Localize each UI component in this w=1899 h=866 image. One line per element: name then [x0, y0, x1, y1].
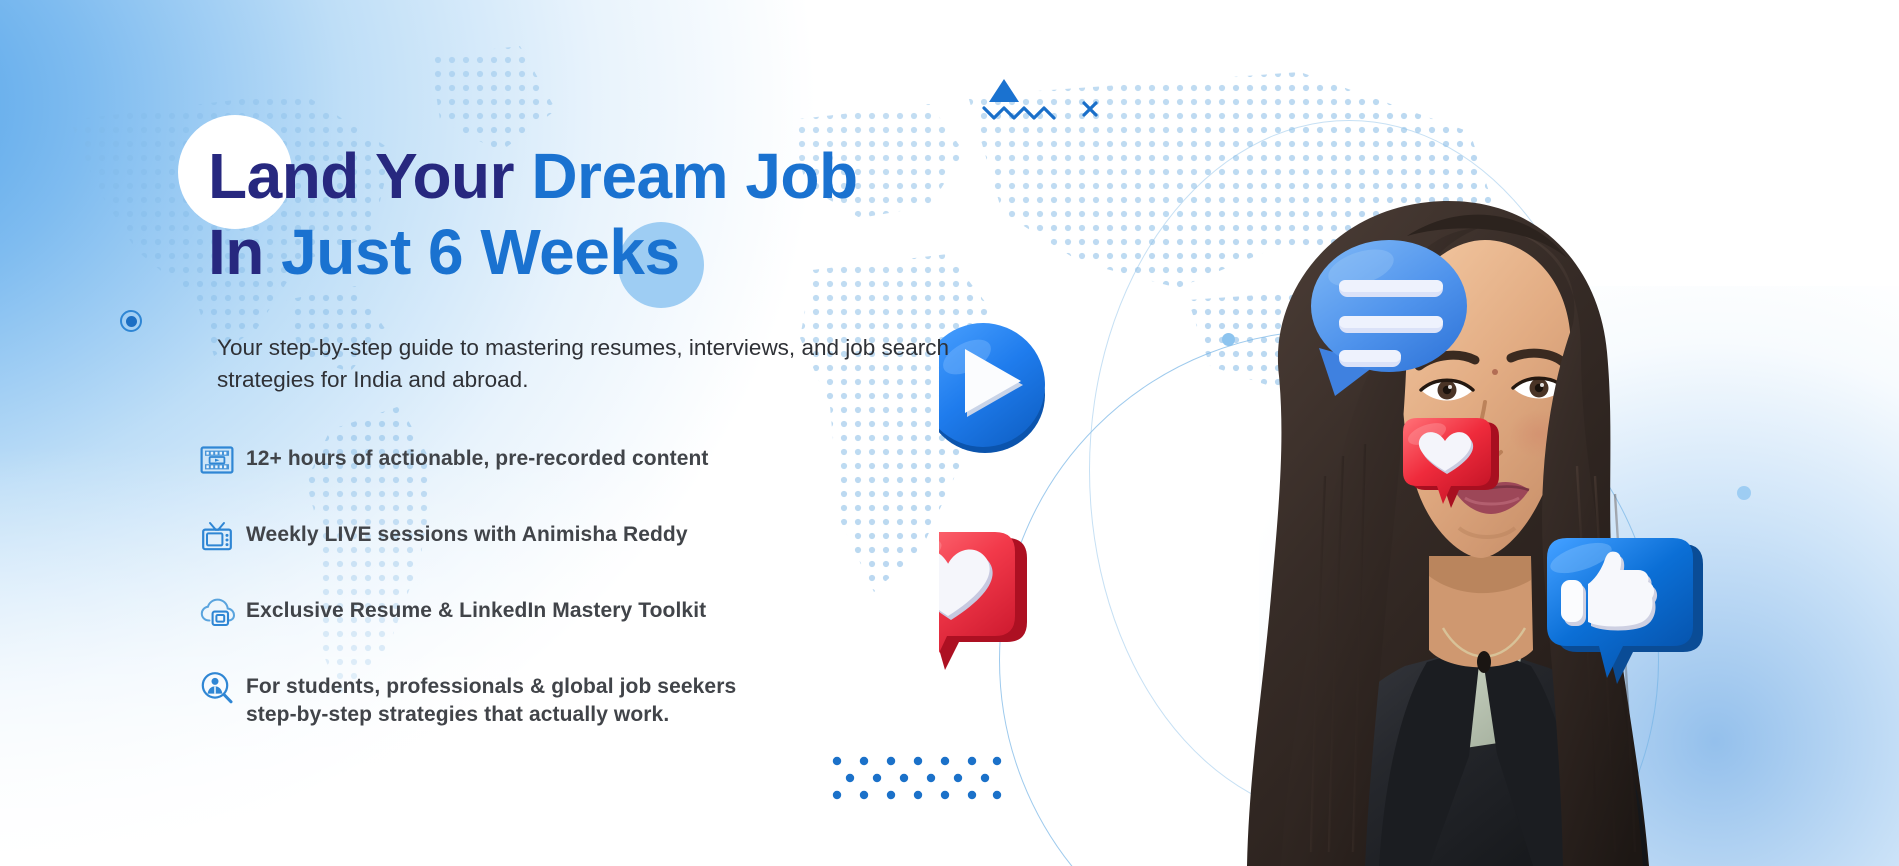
list-item-label: For students, professionals & global job…: [246, 668, 736, 729]
film-strip-video-icon: [200, 440, 246, 480]
list-item: Weekly LIVE sessions with Animisha Reddy: [200, 516, 990, 556]
list-item: 12+ hours of actionable, pre-recorded co…: [200, 440, 990, 480]
list-item-label: Weekly LIVE sessions with Animisha Reddy: [246, 516, 688, 549]
feature-line-1: For students, professionals & global job…: [246, 673, 736, 701]
feature-line-1: Weekly LIVE sessions with Animisha Reddy: [246, 523, 688, 546]
television-live-icon: [200, 516, 246, 556]
feature-line-1: 12+ hours of actionable, pre-recorded co…: [246, 447, 709, 470]
page-title: Land Your Dream Job In Just 6 Weeks: [208, 138, 858, 290]
headline-line1-part2: Dream Job: [531, 140, 857, 212]
list-item: Exclusive Resume & LinkedIn Mastery Tool…: [200, 592, 990, 632]
headline-line2-part2: Just 6 Weeks: [281, 216, 679, 288]
cloud-download-toolkit-icon: [200, 592, 246, 632]
feature-line-1: Exclusive Resume & LinkedIn Mastery Tool…: [246, 599, 706, 622]
person-magnifier-search-icon: [200, 668, 246, 708]
hero-content: Land Your Dream Job In Just 6 Weeks Your…: [0, 0, 1899, 866]
headline-line2-part1: In: [208, 216, 281, 288]
list-item-label: 12+ hours of actionable, pre-recorded co…: [246, 440, 709, 473]
hero-banner: Land Your Dream Job In Just 6 Weeks Your…: [0, 0, 1899, 866]
feature-line-2: step-by-step strategies that actually wo…: [246, 701, 736, 729]
headline-line1-part1: Land Your: [208, 140, 531, 212]
list-item-label: Exclusive Resume & LinkedIn Mastery Tool…: [246, 592, 706, 625]
feature-list: 12+ hours of actionable, pre-recorded co…: [200, 440, 990, 729]
hero-subtitle: Your step-by-step guide to mastering res…: [217, 332, 1007, 396]
list-item: For students, professionals & global job…: [200, 668, 990, 729]
